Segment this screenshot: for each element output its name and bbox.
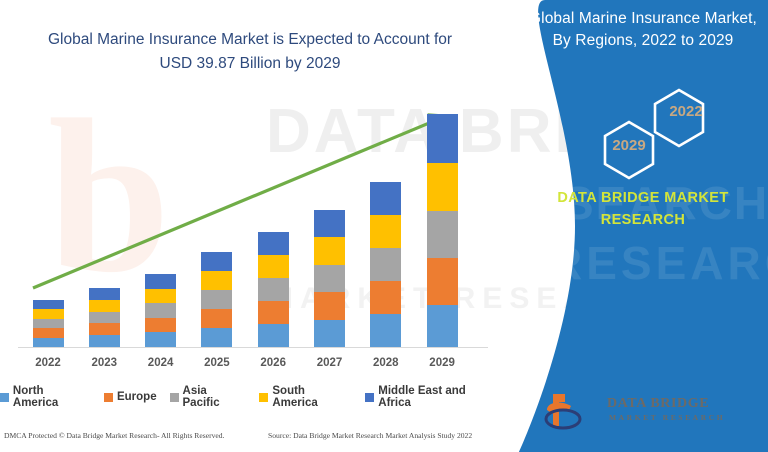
bar-segment-2025-middle-east-and-africa <box>201 252 232 271</box>
chart-legend: North AmericaEuropeAsia PacificSouth Ame… <box>0 385 500 409</box>
bar-2025 <box>201 252 232 347</box>
bar-segment-2026-europe <box>258 301 289 324</box>
bar-segment-2022-south-america <box>33 309 64 318</box>
bar-segment-2027-south-america <box>314 237 345 264</box>
bar-segment-2028-south-america <box>370 215 401 248</box>
legend-item-europe[interactable]: Europe <box>104 391 157 403</box>
bar-segment-2022-middle-east-and-africa <box>33 300 64 309</box>
bar-segment-2028-middle-east-and-africa <box>370 182 401 215</box>
dbmr-logo-mark <box>541 392 603 432</box>
bar-segment-2025-europe <box>201 309 232 328</box>
bar-segment-2028-asia-pacific <box>370 248 401 281</box>
legend-label: North America <box>13 385 91 409</box>
legend-swatch-icon <box>0 393 9 402</box>
x-axis-label-2028: 2028 <box>358 357 414 369</box>
bar-segment-2027-north-america <box>314 320 345 347</box>
bar-segment-2029-europe <box>427 258 458 305</box>
x-axis-label-2025: 2025 <box>189 357 245 369</box>
bar-segment-2029-middle-east-and-africa <box>427 114 458 163</box>
bar-segment-2027-asia-pacific <box>314 265 345 292</box>
bar-segment-2024-asia-pacific <box>145 303 176 318</box>
x-axis-label-2026: 2026 <box>245 357 301 369</box>
panel-brand-line-2: RESEARCH <box>519 212 767 228</box>
bar-segment-2025-asia-pacific <box>201 290 232 309</box>
hexagon-2022-label: 2022 <box>657 103 715 120</box>
bar-segment-2029-north-america <box>427 305 458 347</box>
panel-brand-line-1: DATA BRIDGE MARKET <box>519 190 767 206</box>
dbmr-logo-name: DATA BRIDGE <box>607 396 709 412</box>
bar-segment-2023-asia-pacific <box>89 312 120 324</box>
x-axis-label-2024: 2024 <box>133 357 189 369</box>
bar-segment-2026-asia-pacific <box>258 278 289 301</box>
legend-swatch-icon <box>104 393 113 402</box>
bar-2022 <box>33 300 64 347</box>
x-axis-label-2027: 2027 <box>302 357 358 369</box>
legend-item-south-america[interactable]: South America <box>259 385 352 409</box>
bar-segment-2024-south-america <box>145 289 176 304</box>
bar-2027 <box>314 210 345 347</box>
x-axis-label-2023: 2023 <box>76 357 132 369</box>
bar-2026 <box>258 232 289 347</box>
bar-segment-2024-middle-east-and-africa <box>145 274 176 289</box>
dbmr-logo: DATA BRIDGE MARKET RESEARCH <box>541 392 761 436</box>
legend-swatch-icon <box>365 393 374 402</box>
dbmr-logo-sub: MARKET RESEARCH <box>609 413 725 422</box>
hexagon-2029-label: 2029 <box>600 137 658 154</box>
bar-segment-2023-south-america <box>89 300 120 312</box>
bar-2028 <box>370 182 401 347</box>
legend-item-asia-pacific[interactable]: Asia Pacific <box>170 385 247 409</box>
bar-segment-2026-south-america <box>258 255 289 278</box>
legend-label: South America <box>272 385 352 409</box>
legend-item-middle-east-and-africa[interactable]: Middle East and Africa <box>365 385 500 409</box>
right-side-panel: RESEARCH RESEARCH Global Marine Insuranc… <box>505 0 768 452</box>
legend-label: Asia Pacific <box>183 385 247 409</box>
legend-swatch-icon <box>259 393 268 402</box>
bar-segment-2022-europe <box>33 328 64 337</box>
bar-segment-2026-middle-east-and-africa <box>258 232 289 255</box>
x-axis-label-2022: 2022 <box>20 357 76 369</box>
legend-swatch-icon <box>170 393 179 402</box>
bar-segment-2027-middle-east-and-africa <box>314 210 345 237</box>
bar-segment-2024-europe <box>145 318 176 333</box>
bar-segment-2029-asia-pacific <box>427 211 458 258</box>
infographic-canvas: b DATA BRIDGE MARKET RESEARCH Global Mar… <box>0 0 768 452</box>
bar-segment-2022-north-america <box>33 338 64 347</box>
bar-2023 <box>89 288 120 347</box>
legend-label: Middle East and Africa <box>378 385 500 409</box>
footer-source: Source: Data Bridge Market Research Mark… <box>268 431 472 440</box>
bar-segment-2023-north-america <box>89 335 120 347</box>
legend-item-north-america[interactable]: North America <box>0 385 91 409</box>
x-axis-label-2029: 2029 <box>414 357 470 369</box>
bar-segment-2024-north-america <box>145 332 176 347</box>
bar-segment-2022-asia-pacific <box>33 319 64 328</box>
legend-label: Europe <box>117 391 157 403</box>
bar-segment-2023-middle-east-and-africa <box>89 288 120 300</box>
bar-segment-2028-north-america <box>370 314 401 347</box>
bar-segment-2026-north-america <box>258 324 289 347</box>
bar-segment-2028-europe <box>370 281 401 314</box>
bar-segment-2027-europe <box>314 292 345 319</box>
bar-segment-2029-south-america <box>427 163 458 211</box>
bar-segment-2025-south-america <box>201 271 232 290</box>
x-axis-baseline <box>18 347 488 348</box>
footer-copyright: DMCA Protected © Data Bridge Market Rese… <box>4 431 224 440</box>
bar-segment-2025-north-america <box>201 328 232 347</box>
bar-2024 <box>145 274 176 347</box>
bar-2029 <box>427 114 458 347</box>
bar-segment-2023-europe <box>89 323 120 335</box>
